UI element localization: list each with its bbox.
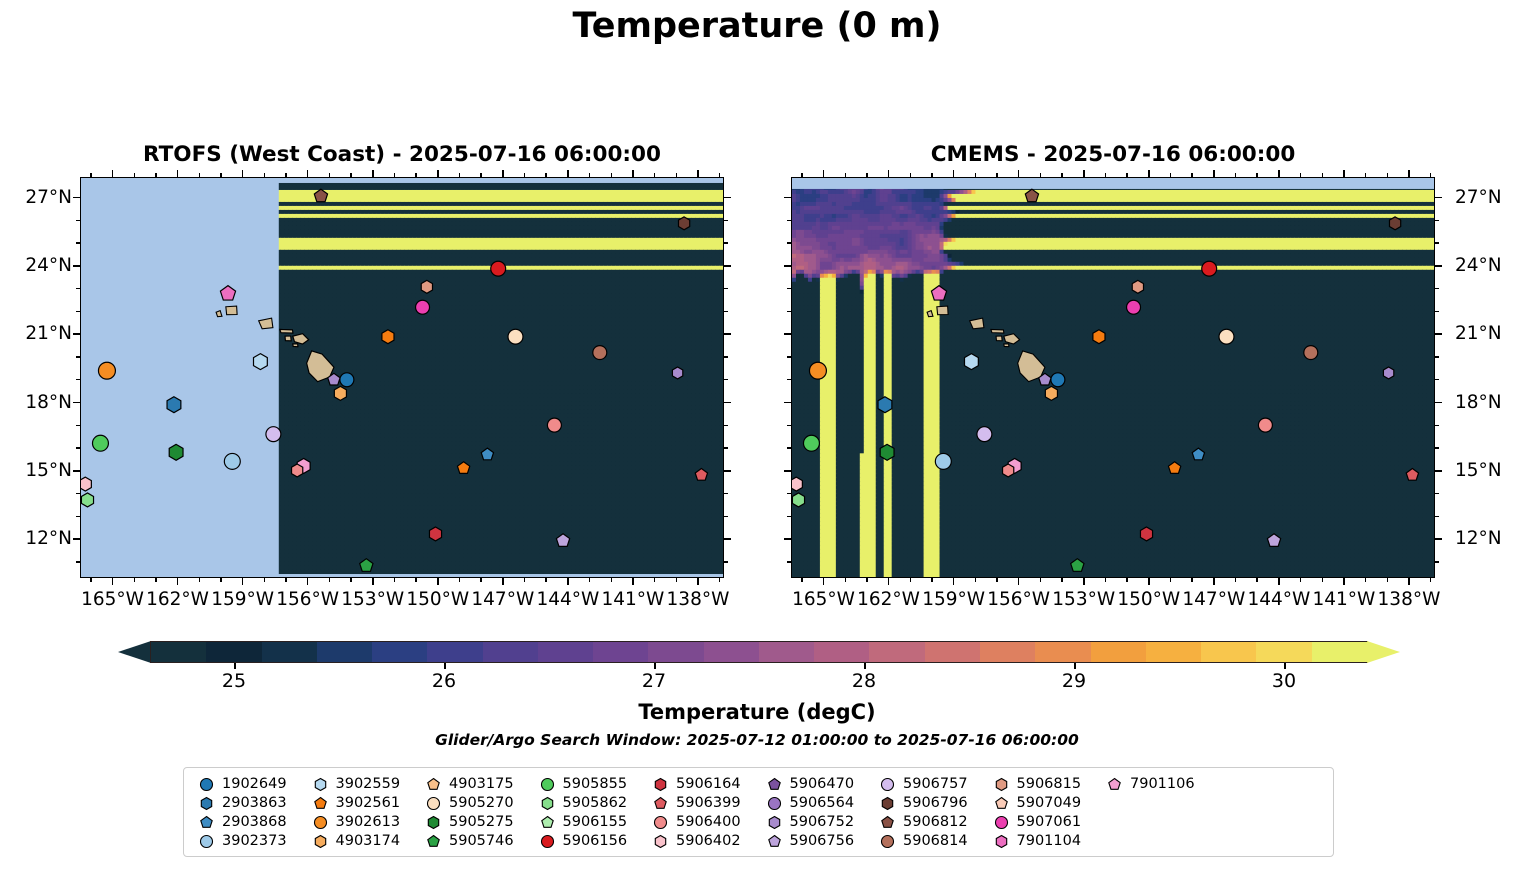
- y-tick-opposite: [784, 333, 791, 335]
- colorbar-tick: [1284, 663, 1286, 669]
- legend-item-label: 5906470: [790, 775, 855, 794]
- y-tick-minor: [1435, 220, 1439, 221]
- y-tick-minor: [76, 311, 80, 312]
- legend-item[interactable]: 5907061: [993, 813, 1107, 832]
- x-tick: [953, 578, 955, 585]
- y-tick-minor: [787, 516, 791, 517]
- y-tick-minor: [1435, 379, 1439, 380]
- x-tick: [242, 578, 244, 585]
- y-tick-minor: [787, 561, 791, 562]
- x-tick: [372, 578, 374, 585]
- x-tick-minor: [801, 173, 802, 177]
- x-tick-minor: [1387, 578, 1388, 582]
- legend-item-label: 5906752: [790, 813, 855, 832]
- float-marker[interactable]: [792, 493, 804, 507]
- float-marker[interactable]: [1168, 462, 1180, 474]
- float-marker[interactable]: [1071, 559, 1084, 572]
- pentagon-marker-icon: [652, 795, 669, 812]
- y-tick-minor: [724, 561, 728, 562]
- y-tick-minor: [787, 220, 791, 221]
- float-marker[interactable]: [556, 534, 569, 547]
- y-tick-opposite: [724, 538, 731, 540]
- legend-item[interactable]: 4903174: [312, 832, 426, 851]
- x-tick-top: [632, 170, 634, 177]
- x-tick-minor: [264, 173, 265, 177]
- x-tick: [1213, 578, 1215, 585]
- legend-item[interactable]: 5906812: [879, 813, 993, 832]
- pentagon-marker-icon: [766, 776, 783, 793]
- x-tick-minor: [329, 578, 330, 582]
- x-tick-minor: [1365, 173, 1366, 177]
- x-tick-minor: [866, 578, 867, 582]
- legend-item-label: 3902373: [222, 832, 287, 851]
- float-marker[interactable]: [224, 453, 240, 469]
- float-marker[interactable]: [695, 469, 707, 481]
- x-tick-minor: [1061, 173, 1062, 177]
- x-tick-minor: [1235, 173, 1236, 177]
- x-tick-minor: [654, 578, 655, 582]
- legend-item[interactable]: 3902559: [312, 775, 426, 794]
- x-tick-minor: [1040, 173, 1041, 177]
- x-tick-top: [1148, 170, 1150, 177]
- colorbar-tick: [654, 663, 656, 669]
- x-tick-minor: [415, 173, 416, 177]
- legend-item-label: 2903868: [222, 813, 287, 832]
- legend-item[interactable]: 5906815: [993, 775, 1107, 794]
- float-markers-rtofs: [81, 178, 723, 577]
- legend-item[interactable]: 4903175: [425, 775, 539, 794]
- x-tick-top: [888, 170, 890, 177]
- y-tick: [1435, 538, 1442, 540]
- legend-item[interactable]: 5905862: [539, 794, 653, 813]
- y-tick-minor: [1435, 311, 1439, 312]
- legend-item-label: 5907061: [1017, 813, 1082, 832]
- float-marker[interactable]: [328, 373, 340, 385]
- y-tick-minor: [787, 311, 791, 312]
- colorbar-tick: [1074, 663, 1076, 669]
- x-tick-minor: [589, 578, 590, 582]
- x-tick-minor: [524, 173, 525, 177]
- x-tick: [177, 578, 179, 585]
- pentagon-marker-icon: [539, 814, 556, 831]
- y-tick-minor: [1435, 516, 1439, 517]
- legend-item[interactable]: 2903863: [198, 794, 312, 813]
- x-tick-minor: [719, 578, 720, 582]
- float-marker[interactable]: [429, 527, 441, 541]
- x-tick-top: [697, 170, 699, 177]
- legend-item-label: 5906402: [676, 832, 741, 851]
- float-marker[interactable]: [167, 397, 181, 413]
- page-title: Temperature (0 m): [0, 6, 1514, 46]
- x-tick: [502, 578, 504, 585]
- legend-item[interactable]: 5906756: [766, 832, 880, 851]
- y-tick: [73, 470, 80, 472]
- colorbar-segment: [648, 642, 703, 662]
- legend-item[interactable]: 1902649: [198, 775, 312, 794]
- float-markers-cmems: [792, 178, 1434, 577]
- float-marker[interactable]: [1389, 217, 1400, 230]
- float-marker[interactable]: [935, 453, 951, 469]
- x-tick-minor: [264, 578, 265, 582]
- y-tick-minor: [724, 493, 728, 494]
- x-tick-minor: [1170, 578, 1171, 582]
- float-marker[interactable]: [266, 427, 281, 442]
- x-tick-minor: [1365, 578, 1366, 582]
- float-marker[interactable]: [382, 330, 394, 344]
- float-marker[interactable]: [292, 464, 303, 477]
- colorbar-label: Temperature (degC): [0, 700, 1514, 724]
- x-tick-minor: [90, 578, 91, 582]
- y-tick-minor: [724, 288, 728, 289]
- y-tick-minor: [724, 516, 728, 517]
- float-marker[interactable]: [1258, 418, 1272, 432]
- pentagon-marker-icon: [312, 795, 329, 812]
- legend-item-label: 1902649: [222, 775, 287, 794]
- y-tick-minor: [1435, 425, 1439, 426]
- x-tick-minor: [1105, 578, 1106, 582]
- x-tick-minor: [394, 173, 395, 177]
- legend-item[interactable]: 5905746: [425, 832, 539, 851]
- pentagon-marker-icon: [425, 833, 442, 850]
- y-tick-label: 27°N: [1443, 187, 1502, 207]
- x-tick-minor: [866, 173, 867, 177]
- x-tick-minor: [1235, 578, 1236, 582]
- hexagon-marker-icon: [993, 833, 1010, 850]
- float-marker[interactable]: [169, 444, 183, 460]
- x-tick-top: [1213, 170, 1215, 177]
- float-marker[interactable]: [1051, 373, 1065, 387]
- x-tick-minor: [611, 578, 612, 582]
- float-marker[interactable]: [1304, 346, 1318, 360]
- legend-item[interactable]: 2903868: [198, 813, 312, 832]
- float-marker[interactable]: [593, 346, 607, 360]
- legend-item[interactable]: 7901104: [993, 832, 1107, 851]
- circle-marker-icon: [879, 776, 896, 793]
- y-tick-opposite: [724, 402, 731, 404]
- x-tick-minor: [90, 173, 91, 177]
- x-tick-top: [307, 170, 309, 177]
- colorbar-segment: [814, 642, 869, 662]
- y-tick-opposite: [724, 265, 731, 267]
- x-tick-minor: [910, 173, 911, 177]
- legend-item-label: 5906814: [903, 832, 968, 851]
- hexagon-marker-icon: [993, 776, 1010, 793]
- x-tick-minor: [676, 173, 677, 177]
- colorbar-extend-min: [118, 641, 151, 663]
- legend-item[interactable]: 5905275: [425, 813, 539, 832]
- legend-item[interactable]: 5905270: [425, 794, 539, 813]
- colorbar-tick-label: 26: [409, 670, 479, 692]
- colorbar-tick: [444, 663, 446, 669]
- x-tick-minor: [459, 578, 460, 582]
- x-tick-minor: [1256, 578, 1257, 582]
- pentagon-marker-icon: [425, 776, 442, 793]
- float-marker[interactable]: [491, 261, 506, 276]
- colorbar-segment: [262, 642, 317, 662]
- x-tick-minor: [134, 578, 135, 582]
- y-tick-label: 15°N: [10, 460, 72, 480]
- float-marker[interactable]: [421, 280, 432, 293]
- y-tick-minor: [787, 288, 791, 289]
- float-marker[interactable]: [508, 329, 523, 344]
- x-tick-minor: [1322, 173, 1323, 177]
- float-marker[interactable]: [254, 354, 268, 370]
- y-tick-minor: [724, 425, 728, 426]
- legend-item-label: 5905270: [449, 794, 514, 813]
- y-tick-minor: [787, 379, 791, 380]
- legend-grid: 1902649290386329038683902373390255939025…: [184, 775, 1333, 851]
- legend-item[interactable]: 5906164: [652, 775, 766, 794]
- colorbar-segment: [1256, 642, 1311, 662]
- y-tick-minor: [1435, 561, 1439, 562]
- float-marker[interactable]: [416, 300, 430, 314]
- float-marker[interactable]: [360, 559, 373, 572]
- x-tick-minor: [545, 578, 546, 582]
- pentagon-marker-icon: [993, 795, 1010, 812]
- x-tick-minor: [285, 578, 286, 582]
- y-tick: [73, 333, 80, 335]
- legend-item-label: 5906815: [1017, 775, 1082, 794]
- legend-item[interactable]: 5906752: [766, 813, 880, 832]
- y-tick: [73, 197, 80, 199]
- y-tick-minor: [76, 561, 80, 562]
- colorbar-tick-label: 25: [199, 670, 269, 692]
- float-marker[interactable]: [1202, 261, 1217, 276]
- y-tick-minor: [76, 493, 80, 494]
- float-marker[interactable]: [809, 362, 826, 379]
- legend-item[interactable]: 3902373: [198, 832, 312, 851]
- x-tick-minor: [589, 173, 590, 177]
- colorbar-extend-max: [1367, 641, 1400, 663]
- y-tick-minor: [724, 242, 728, 243]
- hexagon-marker-icon: [539, 795, 556, 812]
- float-marker[interactable]: [81, 493, 93, 507]
- float-marker[interactable]: [1127, 300, 1141, 314]
- float-marker[interactable]: [481, 448, 493, 460]
- x-tick-minor: [350, 173, 351, 177]
- hexagon-marker-icon: [652, 776, 669, 793]
- circle-marker-icon: [993, 814, 1010, 831]
- x-tick: [1278, 578, 1280, 585]
- legend-item-label: 5907049: [1017, 794, 1082, 813]
- colorbar-segment: [1091, 642, 1146, 662]
- y-tick: [1435, 470, 1442, 472]
- y-tick: [1435, 402, 1442, 404]
- float-marker[interactable]: [1406, 469, 1418, 481]
- x-tick-minor: [975, 173, 976, 177]
- y-tick-label: 18°N: [1443, 392, 1502, 412]
- x-tick-minor: [719, 173, 720, 177]
- float-marker[interactable]: [98, 362, 115, 379]
- y-tick-label: 12°N: [10, 528, 72, 548]
- hexagon-marker-icon: [652, 833, 669, 850]
- float-marker[interactable]: [678, 217, 689, 230]
- x-tick-minor: [845, 578, 846, 582]
- float-marker[interactable]: [1140, 527, 1152, 541]
- x-tick: [437, 578, 439, 585]
- float-marker[interactable]: [880, 444, 894, 460]
- legend-item[interactable]: 7901106: [1106, 775, 1220, 794]
- legend-item-label: 7901104: [1017, 832, 1082, 851]
- map-panel-rtofs[interactable]: [80, 177, 724, 578]
- legend-item[interactable]: 5906564: [766, 794, 880, 813]
- y-tick-label: 12°N: [1443, 528, 1502, 548]
- float-marker[interactable]: [878, 397, 892, 413]
- float-marker[interactable]: [1192, 448, 1204, 460]
- x-tick-minor: [1300, 578, 1301, 582]
- float-legend[interactable]: 1902649290386329038683902373390255939025…: [183, 767, 1334, 857]
- pentagon-marker-icon: [1106, 776, 1123, 793]
- y-tick-opposite: [724, 333, 731, 335]
- x-tick-minor: [1191, 578, 1192, 582]
- float-marker[interactable]: [672, 367, 682, 379]
- x-tick-top: [1408, 170, 1410, 177]
- float-marker[interactable]: [1039, 373, 1051, 385]
- x-tick-minor: [1191, 173, 1192, 177]
- y-tick-minor: [1435, 447, 1439, 448]
- float-marker[interactable]: [547, 418, 561, 432]
- y-tick-minor: [76, 356, 80, 357]
- float-marker[interactable]: [1219, 329, 1234, 344]
- legend-item-label: 3902613: [336, 813, 401, 832]
- colorbar-tick-label: 28: [829, 670, 899, 692]
- legend-item[interactable]: 3902561: [312, 794, 426, 813]
- float-marker[interactable]: [931, 286, 946, 300]
- circle-marker-icon: [198, 833, 215, 850]
- x-tick-label: 138°W: [1366, 589, 1452, 610]
- float-marker[interactable]: [81, 477, 91, 491]
- legend-item[interactable]: 5906470: [766, 775, 880, 794]
- legend-item-label: 5906155: [563, 813, 628, 832]
- float-marker[interactable]: [1093, 330, 1105, 344]
- legend-item[interactable]: 5907049: [993, 794, 1107, 813]
- y-tick-minor: [787, 356, 791, 357]
- colorbar-segment: [1312, 642, 1367, 662]
- colorbar-gradient: [150, 641, 1368, 663]
- y-tick-minor: [724, 379, 728, 380]
- colorbar-segment: [704, 642, 759, 662]
- x-tick-minor: [480, 173, 481, 177]
- figure-canvas: Temperature (0 m) RTOFS (West Coast) - 2…: [0, 0, 1514, 889]
- float-marker[interactable]: [92, 435, 108, 451]
- x-tick-minor: [1256, 173, 1257, 177]
- y-tick-label: 15°N: [1443, 460, 1502, 480]
- x-tick-minor: [910, 578, 911, 582]
- legend-item[interactable]: 5906156: [539, 832, 653, 851]
- x-tick-minor: [996, 578, 997, 582]
- float-marker[interactable]: [1045, 386, 1057, 400]
- legend-item-label: 4903175: [449, 775, 514, 794]
- y-tick-opposite: [784, 538, 791, 540]
- legend-item-label: 5906812: [903, 813, 968, 832]
- float-marker[interactable]: [792, 477, 802, 491]
- x-tick-top: [242, 170, 244, 177]
- float-marker[interactable]: [1132, 280, 1143, 293]
- x-tick-minor: [220, 578, 221, 582]
- y-tick-minor: [787, 493, 791, 494]
- float-marker[interactable]: [977, 427, 992, 442]
- float-marker[interactable]: [1003, 464, 1014, 477]
- legend-item[interactable]: 5906757: [879, 775, 993, 794]
- circle-marker-icon: [425, 795, 442, 812]
- legend-item[interactable]: 5906155: [539, 813, 653, 832]
- colorbar-segment: [869, 642, 924, 662]
- map-panel-cmems[interactable]: [791, 177, 1435, 578]
- colorbar-segment: [483, 642, 538, 662]
- x-tick-top: [567, 170, 569, 177]
- circle-marker-icon: [766, 795, 783, 812]
- y-tick-minor: [1435, 356, 1439, 357]
- pentagon-marker-icon: [766, 833, 783, 850]
- x-tick-minor: [329, 173, 330, 177]
- y-tick-minor: [76, 242, 80, 243]
- colorbar-segment: [151, 642, 206, 662]
- float-marker[interactable]: [1025, 189, 1038, 202]
- x-tick-top: [823, 170, 825, 177]
- float-marker[interactable]: [965, 354, 979, 370]
- x-tick-minor: [1430, 173, 1431, 177]
- legend-item[interactable]: 5906400: [652, 813, 766, 832]
- x-tick-top: [1343, 170, 1345, 177]
- colorbar-segment: [1201, 642, 1256, 662]
- colorbar-tick-label: 29: [1039, 670, 1109, 692]
- y-tick-minor: [787, 242, 791, 243]
- legend-item[interactable]: 5906402: [652, 832, 766, 851]
- y-axis-right: 27°N24°N21°N18°N15°N12°N: [1443, 177, 1514, 578]
- x-tick: [888, 578, 890, 585]
- y-tick-label: 24°N: [10, 255, 72, 275]
- legend-item-label: 5906400: [676, 813, 741, 832]
- x-tick: [567, 578, 569, 585]
- x-tick-minor: [199, 173, 200, 177]
- colorbar-segment: [1035, 642, 1090, 662]
- legend-item[interactable]: 3902613: [312, 813, 426, 832]
- y-tick-minor: [76, 379, 80, 380]
- y-tick-opposite: [784, 197, 791, 199]
- float-marker[interactable]: [340, 373, 354, 387]
- colorbar-segment: [206, 642, 261, 662]
- legend-item[interactable]: 5906814: [879, 832, 993, 851]
- legend-item-label: 5906796: [903, 794, 968, 813]
- float-marker[interactable]: [1383, 367, 1393, 379]
- legend-item-label: 5905862: [563, 794, 628, 813]
- legend-item-label: 5905855: [563, 775, 628, 794]
- y-tick-label: 21°N: [10, 323, 72, 343]
- y-tick: [1435, 265, 1442, 267]
- float-marker[interactable]: [457, 462, 469, 474]
- float-marker[interactable]: [334, 386, 346, 400]
- float-marker[interactable]: [220, 286, 235, 300]
- pentagon-marker-icon: [879, 814, 896, 831]
- legend-item[interactable]: 5906399: [652, 794, 766, 813]
- legend-item[interactable]: 5905855: [539, 775, 653, 794]
- x-tick-minor: [801, 578, 802, 582]
- y-tick: [1435, 197, 1442, 199]
- x-tick-top: [372, 170, 374, 177]
- legend-item[interactable]: 5906796: [879, 794, 993, 813]
- y-tick-label: 24°N: [1443, 255, 1502, 275]
- y-tick-minor: [724, 447, 728, 448]
- panel-title-rtofs: RTOFS (West Coast) - 2025-07-16 06:00:00: [80, 142, 724, 167]
- float-marker[interactable]: [1267, 534, 1280, 547]
- colorbar-segment: [759, 642, 814, 662]
- float-marker[interactable]: [803, 435, 819, 451]
- x-tick-minor: [611, 173, 612, 177]
- x-tick: [307, 578, 309, 585]
- hexagon-marker-icon: [312, 776, 329, 793]
- float-marker[interactable]: [314, 189, 327, 202]
- circle-marker-icon: [539, 833, 556, 850]
